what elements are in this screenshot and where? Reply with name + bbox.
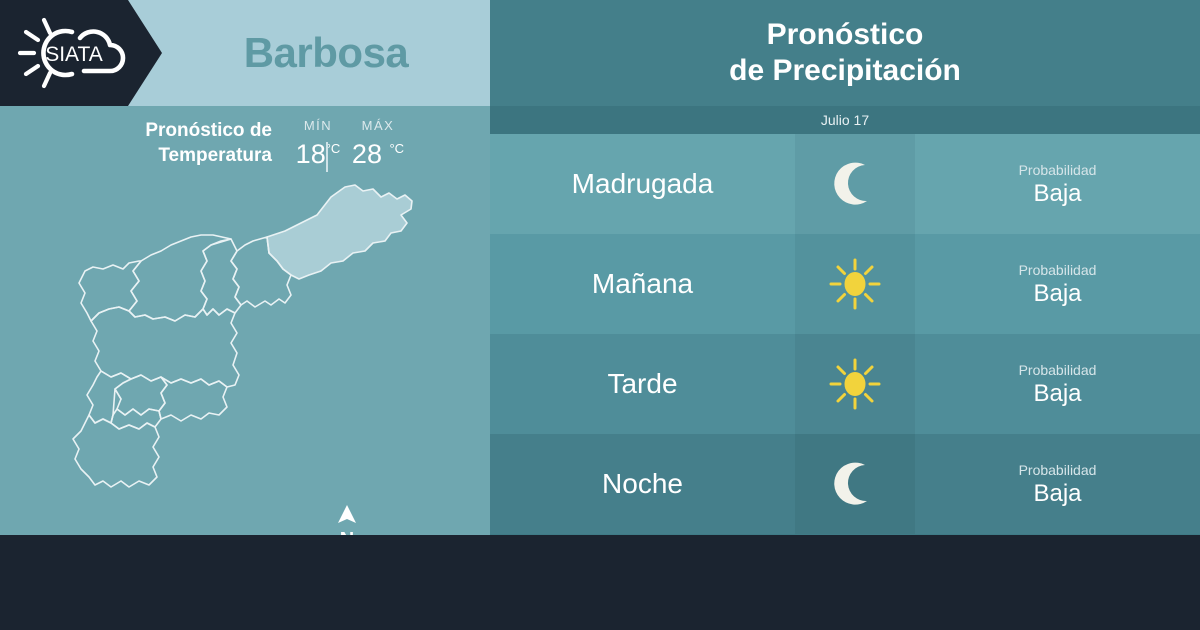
forecast-probability: Probabilidad Baja (915, 234, 1200, 334)
left-header: SIATA Barbosa (0, 0, 490, 106)
forecast-probability: Probabilidad Baja (915, 334, 1200, 434)
probability-value: Baja (1033, 180, 1081, 208)
brand-chevron: SIATA (0, 0, 162, 106)
forecast-date-text: Julio 17 (821, 112, 869, 128)
forecast-row[interactable]: Noche Probabilidad Baja (490, 434, 1200, 534)
precipitation-title-line2: de Precipitación (729, 53, 961, 89)
forecast-probability: Probabilidad Baja (915, 434, 1200, 534)
temperature-summary: Pronóstico de Temperatura MÍN 18°C MÁX 2… (0, 118, 490, 178)
temperature-max-value: 28 °C (338, 133, 418, 170)
map-region-copacabana (201, 239, 241, 315)
temperature-panel: SIATA Barbosa Pronóstico de Temperatura … (0, 0, 490, 535)
page-title: Barbosa (162, 0, 490, 106)
temperature-title-line1: Pronóstico de (92, 118, 272, 143)
forecast-icon-cell (795, 234, 915, 334)
weather-forecast-card: SIATA Barbosa Pronóstico de Temperatura … (0, 0, 1200, 630)
probability-value: Baja (1033, 480, 1081, 508)
precipitation-header: Pronóstico de Precipitación (490, 0, 1200, 106)
forecast-icon-cell (795, 134, 915, 234)
probability-label: Probabilidad (1019, 261, 1097, 280)
map-region-envigado (159, 377, 227, 421)
temperature-max: MÁX 28 °C (338, 118, 418, 170)
forecast-icon-cell (795, 334, 915, 434)
map-region-bello (129, 235, 231, 321)
forecast-period: Mañana (490, 234, 795, 334)
valle-de-aburra-map: N (55, 175, 455, 530)
forecast-period: Madrugada (490, 134, 795, 234)
temperature-divider (326, 142, 328, 172)
map-region-itagui (115, 375, 167, 415)
forecast-row[interactable]: Tarde Pro (490, 334, 1200, 434)
forecast-period-label: Madrugada (572, 168, 714, 200)
moon-icon (827, 456, 883, 512)
sun-icon (827, 256, 883, 312)
probability-label: Probabilidad (1019, 161, 1097, 180)
precipitation-title-line1: Pronóstico (767, 17, 924, 53)
precipitation-panel: Pronóstico de Precipitación Julio 17 Mad… (490, 0, 1200, 535)
probability-label: Probabilidad (1019, 361, 1097, 380)
brand-logo-text: SIATA (45, 43, 103, 66)
moon-icon (827, 156, 883, 212)
map-region-medellin (91, 307, 239, 387)
map-region-barbosa (267, 185, 412, 279)
map-svg (55, 175, 455, 530)
forecast-period-label: Mañana (592, 268, 693, 300)
map-region-caldas (73, 415, 159, 487)
temperature-max-label: MÁX (338, 118, 418, 133)
temperature-title-line2: Temperatura (92, 143, 272, 168)
forecast-period: Tarde (490, 334, 795, 434)
probability-value: Baja (1033, 280, 1081, 308)
temperature-max-unit: °C (389, 141, 404, 156)
forecast-icon-cell (795, 434, 915, 534)
forecast-row[interactable]: Mañana Pr (490, 234, 1200, 334)
map-region-north-west (79, 261, 141, 321)
forecast-period-label: Noche (602, 468, 683, 500)
forecast-period-label: Tarde (607, 368, 677, 400)
probability-label: Probabilidad (1019, 461, 1097, 480)
forecast-period: Noche (490, 434, 795, 534)
footer: @siatamedellin www.siata.gov.co Con el a… (0, 535, 1200, 630)
forecast-row[interactable]: Madrugada Probabilidad Baja (490, 134, 1200, 234)
forecast-probability: Probabilidad Baja (915, 134, 1200, 234)
forecast-date: Julio 17 (490, 106, 1200, 134)
temperature-title: Pronóstico de Temperatura (92, 118, 272, 168)
sun-icon (827, 356, 883, 412)
probability-value: Baja (1033, 380, 1081, 408)
sun-cloud-icon: SIATA (14, 12, 134, 94)
